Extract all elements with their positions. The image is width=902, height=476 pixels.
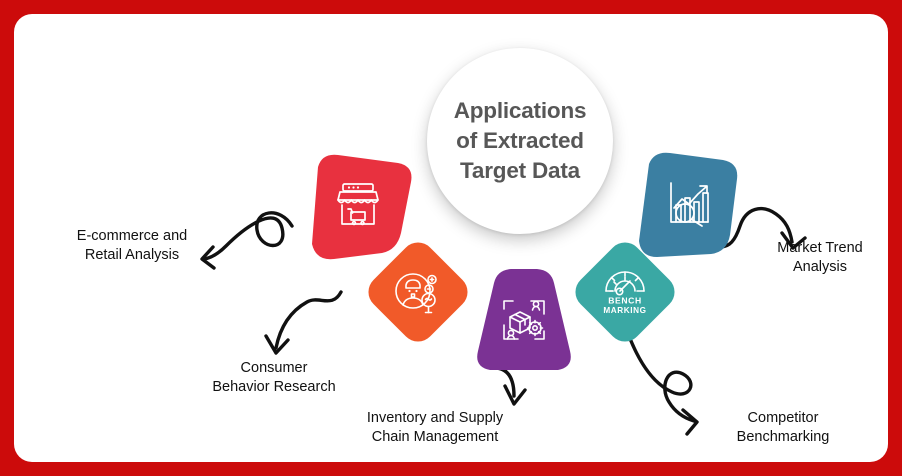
chart-magnifier-icon [662, 178, 714, 230]
infographic-root: BENCH MARKING Applications of [0, 0, 902, 476]
label-consumer: Consumer Behavior Research [179, 359, 369, 398]
benchmarking-gauge-icon: BENCH MARKING [597, 266, 653, 318]
arrow-to-consumer-icon [266, 292, 341, 353]
label-inventory: Inventory and Supply Chain Management [339, 409, 531, 448]
node-inventory[interactable] [469, 267, 579, 373]
benchmark-caption-line2: MARKING [603, 306, 646, 315]
benchmark-caption-line1: BENCH [608, 296, 642, 306]
storefront-icon [332, 179, 384, 231]
hub-circle: Applications of Extracted Target Data [427, 48, 613, 234]
label-ecommerce: E-commerce and Retail Analysis [42, 227, 222, 266]
infographic-canvas: BENCH MARKING Applications of [14, 14, 888, 462]
node-consumer[interactable] [359, 233, 477, 351]
label-competitor: Competitor Benchmarking [698, 409, 868, 448]
hub-title: Applications of Extracted Target Data [454, 96, 587, 186]
label-market: Market Trend Analysis [740, 239, 888, 278]
node-market[interactable] [631, 147, 745, 261]
package-gear-icon [499, 295, 549, 345]
customer-research-icon [391, 265, 445, 319]
